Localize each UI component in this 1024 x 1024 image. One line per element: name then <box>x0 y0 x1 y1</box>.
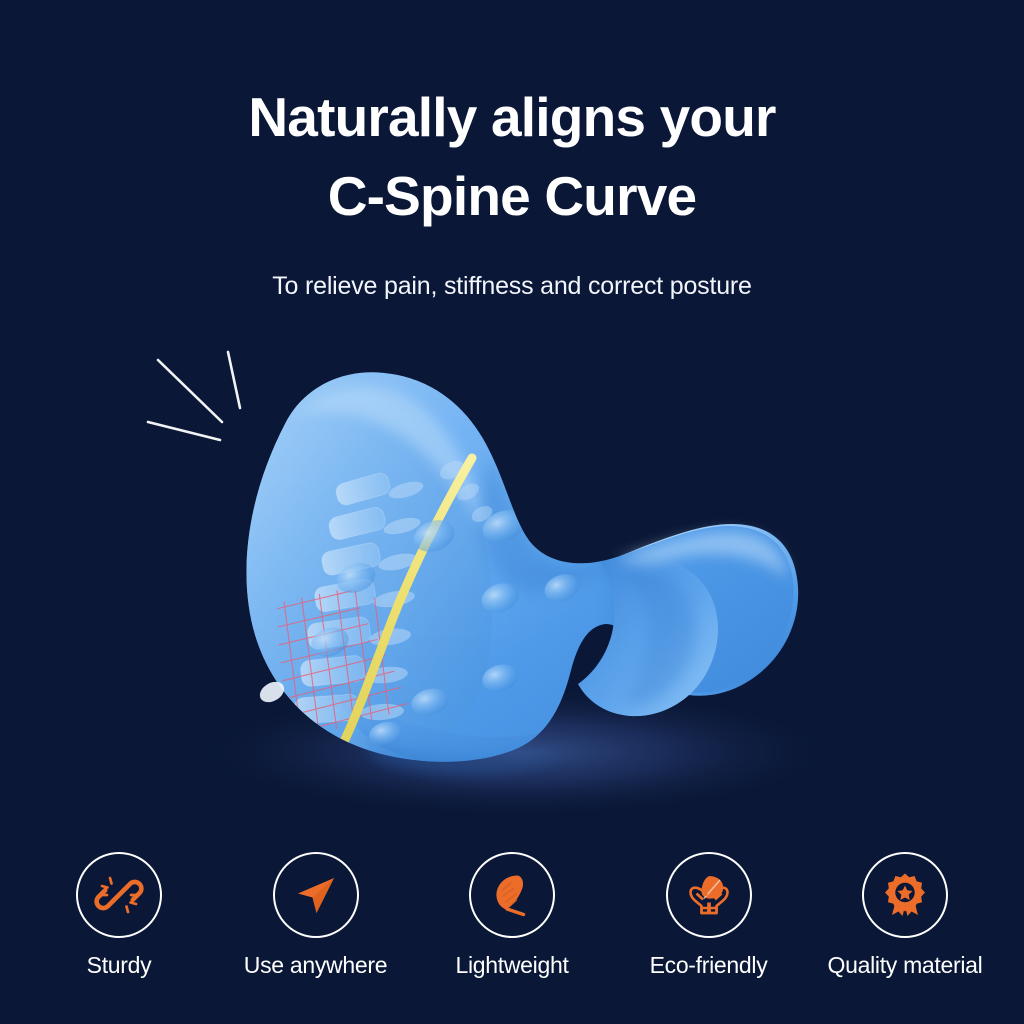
product-illustration <box>100 330 940 830</box>
paper-plane-cursor-icon <box>291 870 341 920</box>
headline-line-2: C-Spine Curve <box>0 157 1024 236</box>
promo-banner: Naturally aligns your C-Spine Curve To r… <box>0 0 1024 1024</box>
feature-icon-circle <box>273 852 359 938</box>
feature-icon-circle <box>666 852 752 938</box>
feature-icon-circle <box>469 852 555 938</box>
hands-holding-leaf-icon <box>683 869 735 921</box>
feature-label: Eco-friendly <box>650 952 768 979</box>
broken-chain-link-icon <box>94 870 144 920</box>
feature-item-use-anywhere[interactable]: Use anywhere <box>231 852 401 979</box>
feather-icon <box>487 870 537 920</box>
feature-item-eco-friendly[interactable]: Eco-friendly <box>624 852 794 979</box>
feature-label: Lightweight <box>455 952 568 979</box>
sparkle-lines <box>148 352 240 440</box>
feature-label: Quality material <box>828 952 983 979</box>
award-rosette-star-icon <box>880 870 930 920</box>
feature-item-quality-material[interactable]: Quality material <box>820 852 990 979</box>
feature-item-sturdy[interactable]: Sturdy <box>34 852 204 979</box>
feature-icon-circle <box>76 852 162 938</box>
subtitle: To relieve pain, stiffness and correct p… <box>0 272 1024 301</box>
page-title: Naturally aligns your C-Spine Curve <box>0 78 1024 235</box>
feature-icon-circle <box>862 852 948 938</box>
headline-line-1: Naturally aligns your <box>248 86 775 148</box>
feature-label: Use anywhere <box>244 952 387 979</box>
feature-list: Sturdy Use anywhere <box>0 852 1024 979</box>
feature-label: Sturdy <box>87 952 152 979</box>
product-image <box>100 330 940 830</box>
feature-item-lightweight[interactable]: Lightweight <box>427 852 597 979</box>
